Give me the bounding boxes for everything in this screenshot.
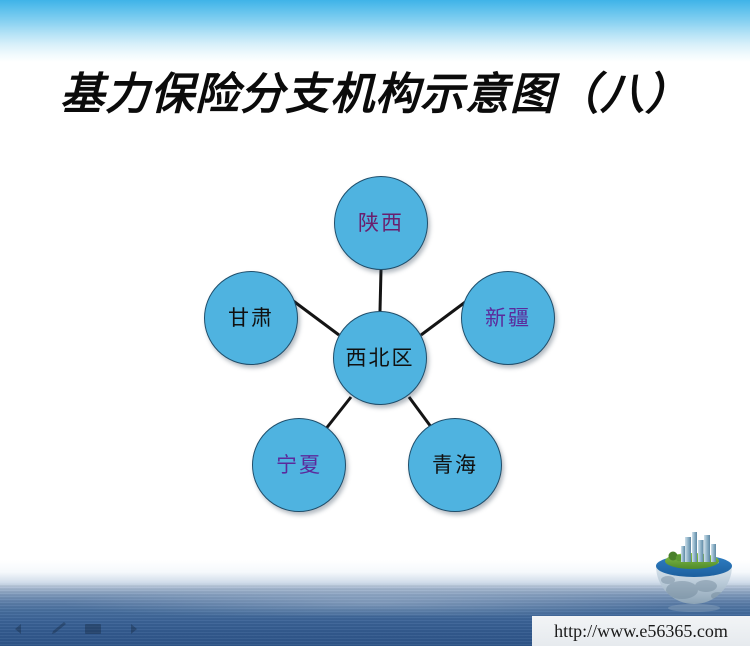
pen-icon[interactable]: [50, 622, 68, 636]
website-url-text: http://www.e56365.com: [554, 621, 728, 642]
presentation-nav-controls[interactable]: [14, 622, 138, 636]
edge-center-shaanxi: [380, 270, 381, 311]
node-center-label: 西北区: [346, 348, 415, 369]
node-center-northwest-region[interactable]: 西北区: [333, 311, 427, 405]
node-gansu[interactable]: 甘肃: [204, 271, 298, 365]
slide-menu-icon[interactable]: [84, 622, 102, 636]
node-qinghai[interactable]: 青海: [408, 418, 502, 512]
node-xinjiang-label: 新疆: [485, 308, 531, 329]
node-ningxia[interactable]: 宁夏: [252, 418, 346, 512]
presentation-slide: 基力保险分支机构示意图（八） 陕西 新疆 青海 宁夏 甘肃: [0, 0, 750, 646]
node-shaanxi-label: 陕西: [358, 213, 404, 234]
node-shaanxi[interactable]: 陕西: [334, 176, 428, 270]
node-ningxia-label: 宁夏: [276, 455, 322, 476]
node-gansu-label: 甘肃: [228, 308, 274, 329]
website-url-plate: http://www.e56365.com: [532, 616, 750, 646]
node-xinjiang[interactable]: 新疆: [461, 271, 555, 365]
back-arrow-icon[interactable]: [14, 622, 34, 636]
edge-center-gansu: [292, 300, 339, 335]
forward-arrow-icon[interactable]: [118, 622, 138, 636]
org-chart-diagram: 陕西 新疆 青海 宁夏 甘肃 西北区: [0, 0, 750, 646]
node-qinghai-label: 青海: [432, 455, 478, 476]
eco-city-globe-logo: [648, 528, 740, 620]
